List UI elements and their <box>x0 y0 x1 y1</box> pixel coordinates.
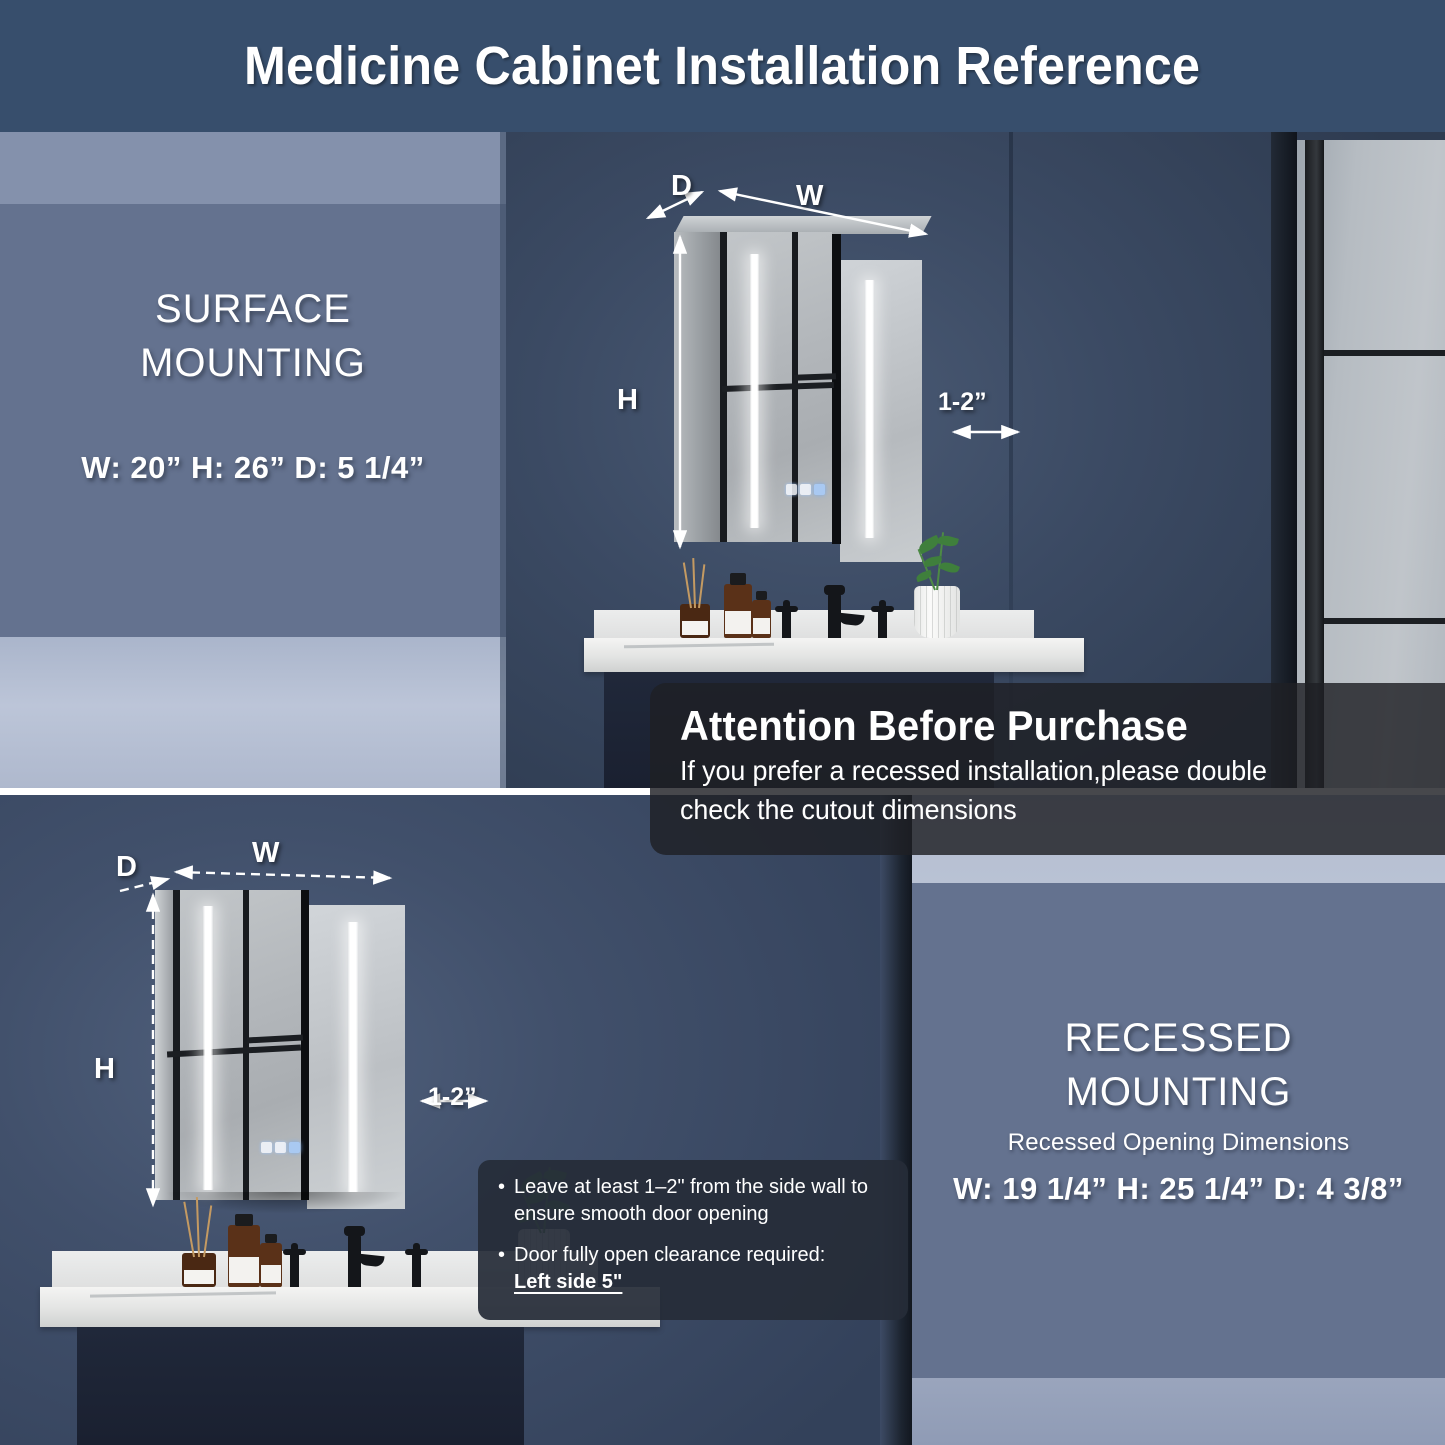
faucet-handle-left <box>290 1249 299 1287</box>
surface-mounting-copy: SURFACE MOUNTING W: 20” H: 26” D: 5 1/4” <box>0 282 506 486</box>
note-item-2: • Door fully open clearance required: Le… <box>498 1242 890 1296</box>
dim-label-depth-bottom: D <box>116 851 137 884</box>
potted-plant <box>914 586 960 638</box>
faucet-handle-left <box>782 606 791 638</box>
surface-dimensions: W: 20” H: 26” D: 5 1/4” <box>0 450 506 486</box>
dim-label-clearance-bottom: 1-2” <box>428 1083 477 1112</box>
attention-banner: Attention Before Purchase If you prefer … <box>650 683 1445 855</box>
bullet-icon: • <box>498 1174 505 1228</box>
bottle-cap <box>235 1214 253 1226</box>
amber-bottle-large <box>724 584 752 638</box>
shower-mullion-horizontal-2 <box>1324 618 1445 624</box>
recessed-mounting-copy: RECESSED MOUNTING Recessed Opening Dimen… <box>912 1011 1445 1207</box>
faucet-handle-right <box>878 606 887 638</box>
diffuser-jar <box>182 1253 216 1287</box>
dimension-arrows-surface <box>636 172 1056 602</box>
surface-title-line1: SURFACE <box>0 282 506 336</box>
faucet-spout <box>828 592 841 638</box>
notes-list: • Leave at least 1–2" from the side wall… <box>498 1174 890 1296</box>
plant-pot <box>914 586 960 638</box>
reed-diffuser <box>182 1253 216 1287</box>
bottle-label <box>261 1265 281 1283</box>
recessed-title-line1: RECESSED <box>912 1011 1445 1065</box>
vanity-countertop <box>584 638 1084 672</box>
attention-heading: Attention Before Purchase <box>680 701 1382 751</box>
shower-mullion-horizontal-1 <box>1324 350 1445 356</box>
page-title: Medicine Cabinet Installation Reference <box>244 35 1200 97</box>
bottle-cap <box>265 1234 277 1243</box>
bathroom-wall-edge <box>880 795 912 1445</box>
surface-title-line2: MOUNTING <box>0 336 506 390</box>
dim-label-width-bottom: W <box>252 837 279 870</box>
dim-label-clearance-top: 1-2” <box>938 388 987 417</box>
bottle-cap <box>756 591 767 600</box>
faucet-handle-right <box>412 1249 421 1287</box>
amber-bottle-small <box>260 1243 282 1287</box>
reed-diffuser <box>680 604 710 638</box>
recessed-title-line2: MOUNTING <box>912 1065 1445 1119</box>
attention-line2: check the cutout dimensions <box>680 790 1389 829</box>
page-header: Medicine Cabinet Installation Reference <box>0 0 1445 132</box>
panel-band-bottom <box>912 1378 1445 1445</box>
bathroom-faucet <box>782 590 902 638</box>
note-item-2-emphasis: Left side 5" <box>514 1271 622 1293</box>
amber-bottle-small <box>752 600 771 638</box>
recessed-dimensions: W: 19 1/4” H: 25 1/4” D: 4 3/8” <box>912 1171 1445 1207</box>
recessed-subnote: Recessed Opening Dimensions <box>912 1129 1445 1157</box>
panel-band-bottom <box>0 637 506 790</box>
amber-bottle-large <box>228 1225 260 1287</box>
faucet-spout <box>348 1233 361 1287</box>
bottle-label <box>753 618 770 634</box>
diffuser-jar <box>680 604 710 638</box>
panel-band-top <box>0 132 506 204</box>
bottle-label <box>229 1257 258 1283</box>
recessed-mounting-text-panel: RECESSED MOUNTING Recessed Opening Dimen… <box>912 795 1445 1445</box>
note-item-2-body: Door fully open clearance required: Left… <box>514 1242 825 1296</box>
note-item-1: • Leave at least 1–2" from the side wall… <box>498 1174 890 1228</box>
dim-label-depth-top: D <box>671 170 692 203</box>
note-item-2-text: Door fully open clearance required: <box>514 1244 825 1266</box>
recessed-mounting-section: D W H 1-2” <box>0 795 1445 1445</box>
bathroom-faucet <box>290 1231 440 1287</box>
bottle-cap <box>730 573 746 585</box>
attention-line1: If you prefer a recessed installation,pl… <box>680 751 1389 790</box>
vanity-cabinet-base <box>77 1327 523 1445</box>
dim-label-height-bottom: H <box>94 1053 115 1086</box>
bullet-icon: • <box>498 1242 505 1296</box>
note-item-1-text: Leave at least 1–2" from the side wall t… <box>514 1174 890 1228</box>
dim-label-width-top: W <box>796 180 823 213</box>
dim-label-height-top: H <box>617 384 638 417</box>
bottle-label <box>725 611 751 634</box>
surface-mounting-text-panel: SURFACE MOUNTING W: 20” H: 26” D: 5 1/4” <box>0 132 506 790</box>
installation-notes-box: • Leave at least 1–2" from the side wall… <box>478 1160 908 1320</box>
recessed-mounting-photo: D W H 1-2” <box>0 795 912 1445</box>
